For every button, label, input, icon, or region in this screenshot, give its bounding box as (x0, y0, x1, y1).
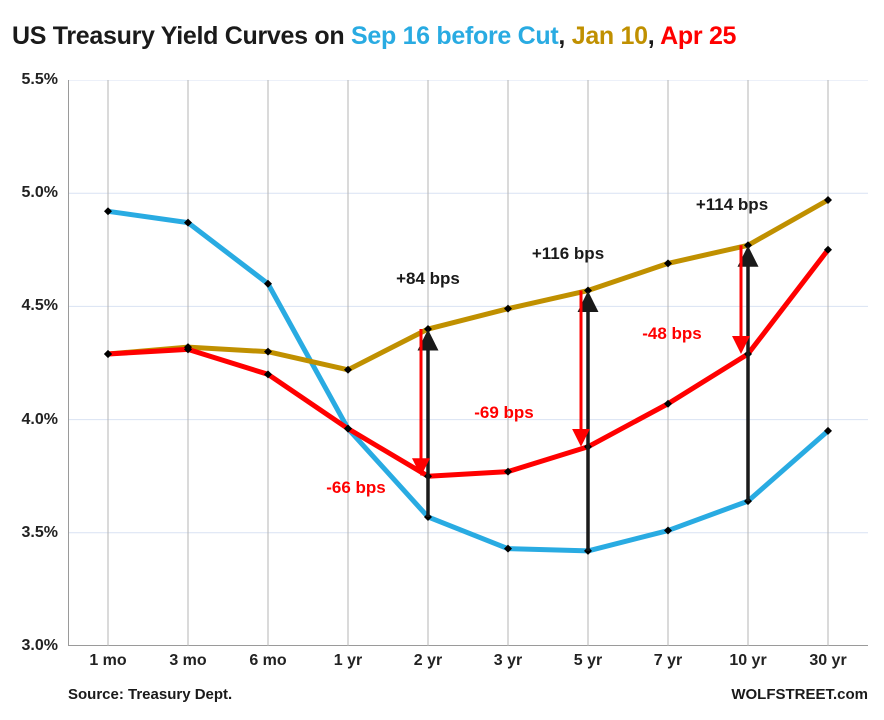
x-axis-labels: 1 mo3 mo6 mo1 yr2 yr3 yr5 yr7 yr10 yr30 … (68, 652, 868, 682)
x-axis-tick-label: 2 yr (414, 652, 442, 670)
annotation-label: +114 bps (696, 195, 768, 215)
y-axis-labels: 3.0%3.5%4.0%4.5%5.0%5.5% (0, 80, 58, 646)
plot-area: +84 bps+116 bps+114 bps-66 bps-69 bps-48… (68, 80, 868, 646)
brand-watermark: WOLFSTREET.com (731, 686, 868, 703)
y-axis-tick-label: 5.0% (22, 184, 58, 202)
annotation-label: -66 bps (326, 478, 386, 498)
x-axis-tick-label: 7 yr (654, 652, 682, 670)
x-axis-tick-label: 6 mo (249, 652, 286, 670)
y-axis-tick-label: 5.5% (22, 71, 58, 89)
annotation-label: -69 bps (474, 403, 534, 423)
title-series-red: Apr 25 (660, 22, 736, 50)
x-axis-tick-label: 3 mo (169, 652, 206, 670)
x-axis-tick-label: 10 yr (729, 652, 766, 670)
y-axis-tick-label: 3.0% (22, 637, 58, 655)
title-series-gold: Jan 10 (572, 22, 648, 50)
series-line (108, 250, 828, 476)
series-line (108, 211, 828, 551)
annotation-label: -48 bps (642, 324, 702, 344)
x-axis-tick-label: 3 yr (494, 652, 522, 670)
title-prefix: US Treasury Yield Curves on (12, 22, 351, 50)
source-note: Source: Treasury Dept. (68, 686, 232, 703)
series-line (108, 200, 828, 370)
title-series-blue: Sep 16 before Cut (351, 22, 558, 50)
annotation-label: +84 bps (396, 269, 460, 289)
data-point-marker (104, 350, 112, 358)
page-title: US Treasury Yield Curves on Sep 16 befor… (12, 22, 736, 51)
yield-curve-chart: US Treasury Yield Curves on Sep 16 befor… (0, 0, 884, 720)
plot-svg (68, 80, 868, 646)
title-separator-2: , (648, 22, 660, 50)
y-axis-tick-label: 3.5% (22, 524, 58, 542)
y-axis-tick-label: 4.5% (22, 297, 58, 315)
y-axis-tick-label: 4.0% (22, 411, 58, 429)
x-axis-tick-label: 1 yr (334, 652, 362, 670)
x-axis-tick-label: 5 yr (574, 652, 602, 670)
annotation-label: +116 bps (532, 244, 604, 264)
x-axis-tick-label: 1 mo (89, 652, 126, 670)
title-separator-1: , (558, 22, 571, 50)
x-axis-tick-label: 30 yr (809, 652, 846, 670)
